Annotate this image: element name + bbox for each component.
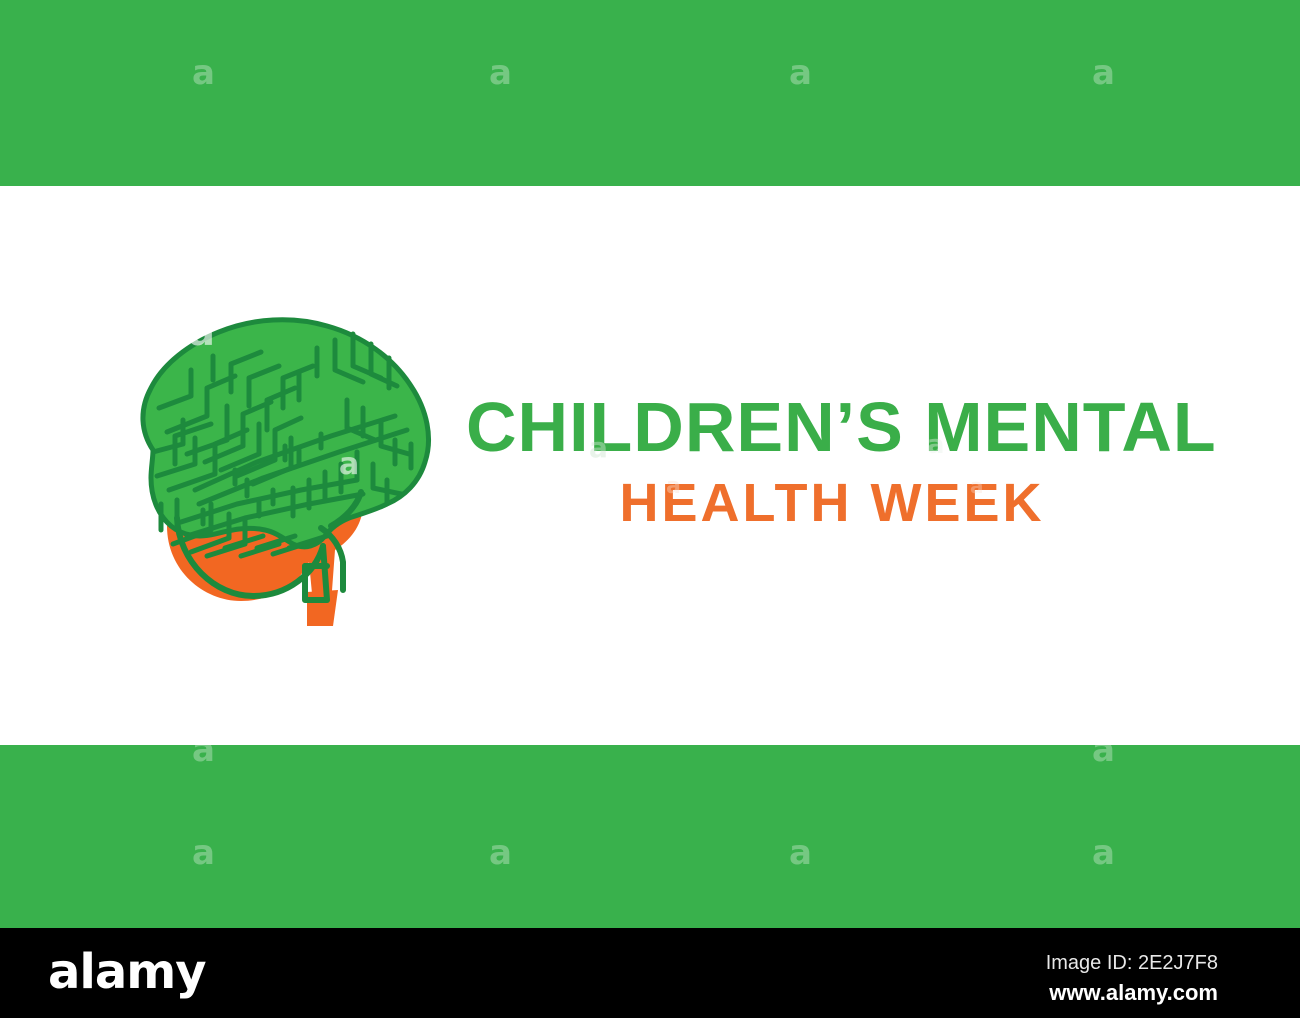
- watermark-a-icon: a: [1092, 836, 1115, 870]
- alamy-url-link[interactable]: www.alamy.com: [1046, 979, 1218, 1008]
- watermark-a-icon: a: [192, 745, 215, 767]
- brain-illustration: [95, 304, 440, 634]
- watermark-a-icon: a: [1092, 56, 1115, 90]
- alamy-logo[interactable]: alamy: [48, 948, 206, 996]
- watermark-a-icon: a: [192, 836, 215, 870]
- stock-photo-page: a a a a: [0, 0, 1300, 1018]
- headline-primary: CHILDREN’S MENTAL: [466, 392, 1206, 462]
- headline-secondary: HEALTH WEEK: [466, 476, 1206, 530]
- letterbox-band-bottom: a a a a a a: [0, 745, 1300, 928]
- artwork-stage: a a CHILDREN’S MENTAL HEALTH WEEK a a a …: [0, 186, 1300, 745]
- watermark-a-icon: a: [489, 836, 512, 870]
- brainstem-shape: [307, 590, 338, 626]
- watermark-a-icon: a: [789, 836, 812, 870]
- letterbox-band-top: a a a a: [0, 0, 1300, 186]
- headline-lockup: CHILDREN’S MENTAL HEALTH WEEK: [466, 392, 1206, 530]
- attribution-bar: alamy Image ID: 2E2J7F8 www.alamy.com: [0, 928, 1300, 1018]
- watermark-a-icon: a: [489, 56, 512, 90]
- attribution-meta: Image ID: 2E2J7F8 www.alamy.com: [1046, 950, 1218, 1008]
- watermark-a-icon: a: [1092, 745, 1115, 767]
- watermark-a-icon: a: [192, 56, 215, 90]
- watermark-a-icon: a: [789, 56, 812, 90]
- image-id-text: Image ID: 2E2J7F8: [1046, 950, 1218, 976]
